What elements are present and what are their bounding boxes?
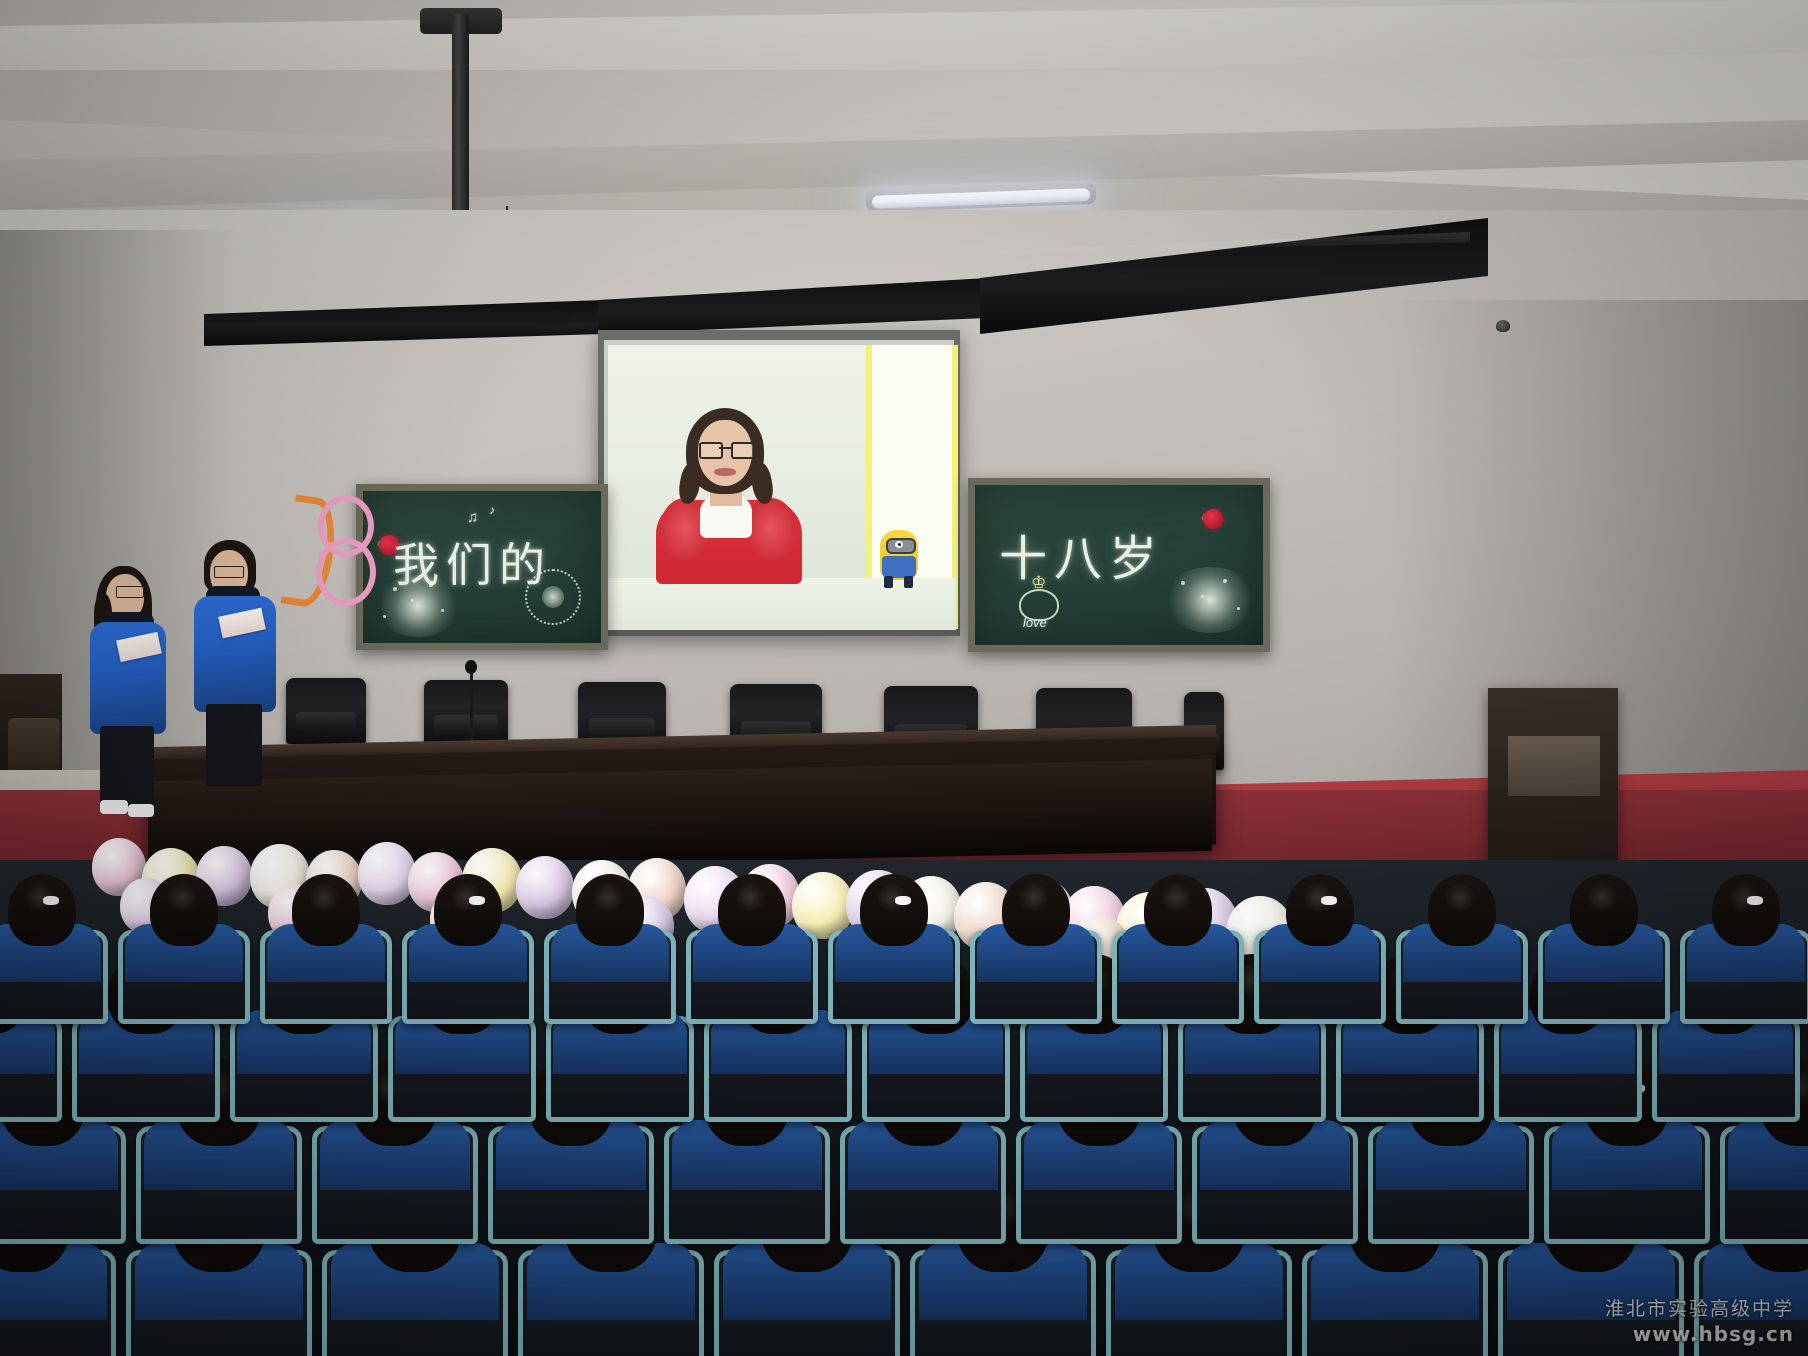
chalk-flowers-right — [1163, 567, 1257, 633]
minion-leg-left — [884, 576, 893, 588]
stage-chair — [424, 680, 508, 748]
hair-bow — [1321, 896, 1337, 905]
photo-scene: ♫ ♪ 我们的 ♔ love 十八岁 — [0, 0, 1808, 1356]
stage-chair — [286, 678, 366, 744]
hair-bow — [469, 896, 485, 905]
balloon — [358, 842, 416, 905]
music-note-icon-2: ♪ — [489, 503, 495, 517]
blackboard-right-text: 十八岁 — [999, 519, 1164, 589]
blackboard-left: ♫ ♪ 我们的 — [356, 484, 608, 650]
hair-bow — [895, 896, 911, 905]
minion-leg-right — [904, 576, 913, 588]
love-text-icon: love — [1023, 615, 1047, 630]
watermark-website: www.hbsg.cn — [1605, 1322, 1794, 1346]
minion-pupil — [898, 543, 901, 546]
microphone-head-2 — [465, 660, 477, 674]
rose-icon-right — [1203, 509, 1223, 529]
hair-bow — [43, 896, 59, 905]
music-note-icon-1: ♫ — [467, 509, 478, 526]
right-cabinet-panel — [1508, 736, 1600, 796]
ceiling-camera-icon — [1496, 320, 1510, 332]
microphone-stand-2 — [470, 668, 473, 740]
balloon-digit-8-bottom — [316, 538, 376, 606]
watermark-school-name: 淮北市实验高级中学 — [1605, 1298, 1794, 1321]
video-person-mouth — [714, 468, 736, 476]
video-person-fur-right — [746, 498, 796, 560]
blackboard-left-text: 我们的 — [393, 529, 552, 595]
watermark: 淮北市实验高级中学 www.hbsg.cn — [1605, 1298, 1794, 1346]
balloon — [516, 856, 574, 919]
hair-bow — [1747, 896, 1763, 905]
minion-overalls — [882, 556, 916, 578]
presenter-left-glasses-icon — [116, 586, 144, 598]
blackboard-right: ♔ love 十八岁 — [968, 478, 1270, 652]
projector-pole — [452, 14, 469, 232]
video-person-glasses-icon — [699, 442, 751, 455]
presenter-right-glasses-icon — [214, 566, 244, 578]
